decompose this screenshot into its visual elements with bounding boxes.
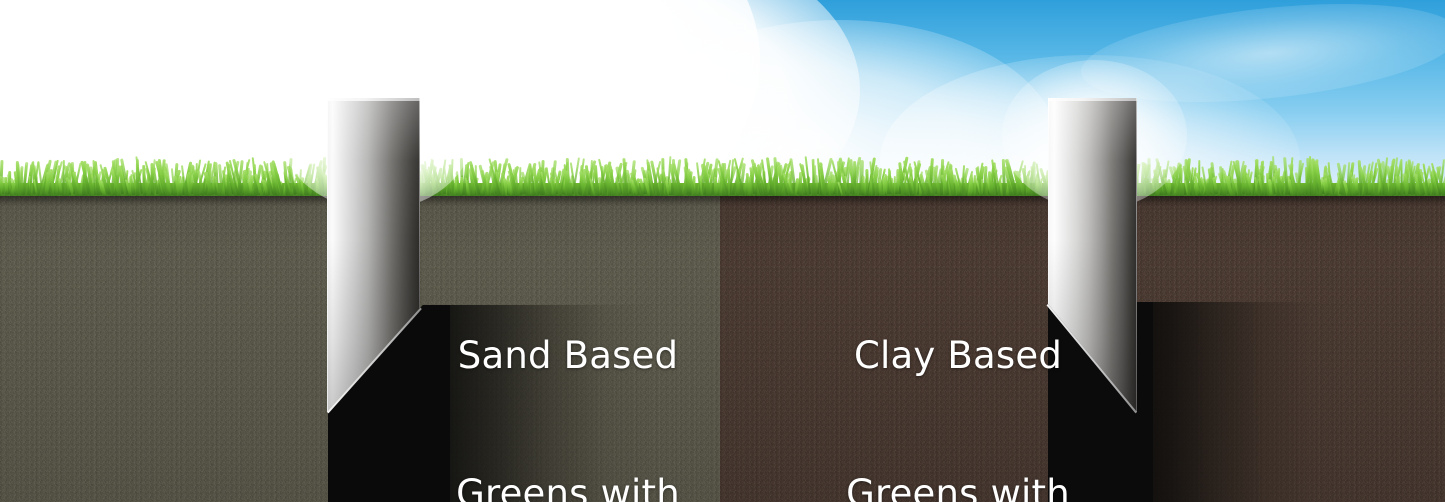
clay-based-label: Clay Based Greens with OUTSIDE CUT bbox=[808, 241, 1108, 502]
sand-label-line2: Greens with bbox=[418, 471, 718, 502]
outside-blade-right-edge bbox=[1136, 98, 1137, 412]
grass-blade bbox=[728, 168, 730, 198]
inside-blade-right-edge bbox=[419, 98, 420, 308]
outside-blade-left-edge bbox=[1048, 98, 1049, 304]
inside-blade-top-edge bbox=[327, 98, 420, 101]
grass-layer bbox=[0, 0, 1445, 200]
sand-label-line1: Sand Based bbox=[418, 333, 718, 379]
clay-label-line2: Greens with bbox=[808, 471, 1108, 502]
grass-blade bbox=[714, 177, 716, 196]
inside-blade-left-edge bbox=[327, 98, 328, 412]
diagram-scene: Sand Based Greens with INSIDE CUT Clay B… bbox=[0, 0, 1445, 502]
outside-blade-top-edge bbox=[1048, 98, 1137, 101]
sand-based-label: Sand Based Greens with INSIDE CUT bbox=[418, 241, 718, 502]
clay-label-line1: Clay Based bbox=[808, 333, 1108, 379]
